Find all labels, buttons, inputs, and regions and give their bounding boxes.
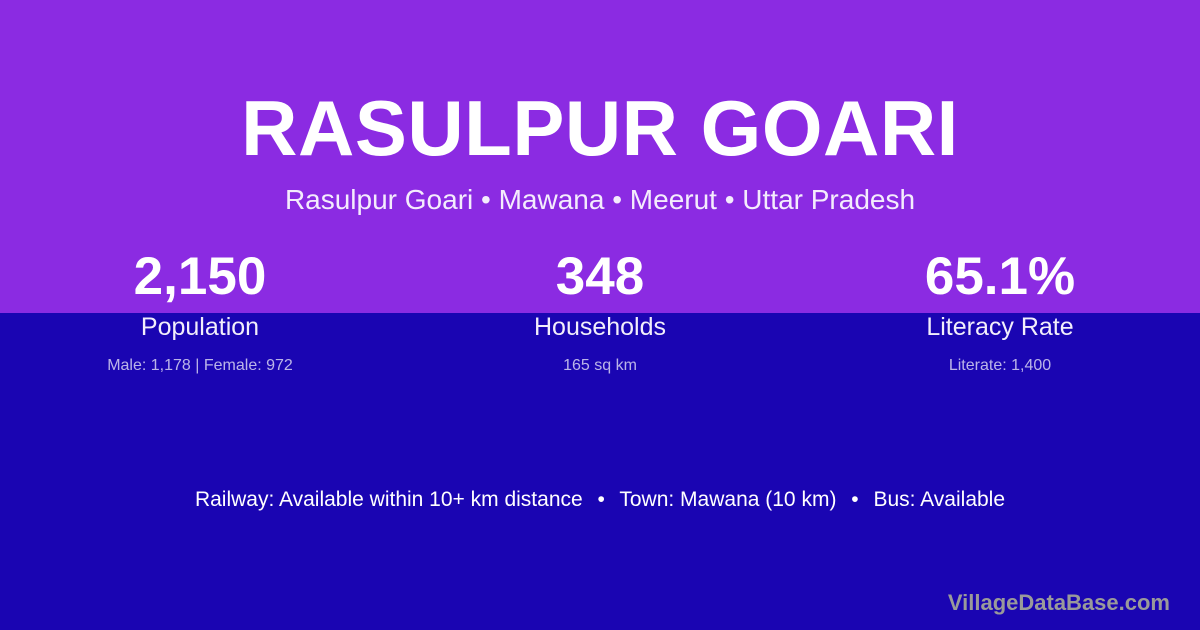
- stat-literacy-rate-sub: Literate: 1,400: [800, 355, 1200, 377]
- amenities-line: Railway: Available within 10+ km distanc…: [0, 486, 1200, 514]
- amenity-town: Town: Mawana (10 km): [619, 488, 836, 511]
- amenity-separator-2: •: [842, 486, 867, 514]
- page-title: RASULPUR GOARI: [0, 83, 1200, 173]
- stats-row: 2,150 Population Male: 1,178 | Female: 9…: [0, 246, 1200, 377]
- village-info-card: RASULPUR GOARI Rasulpur Goari • Mawana •…: [0, 0, 1200, 630]
- stat-population-sub: Male: 1,178 | Female: 972: [0, 355, 400, 377]
- stat-households-value: 348: [400, 246, 800, 308]
- breadcrumb: Rasulpur Goari • Mawana • Meerut • Uttar…: [0, 182, 1200, 218]
- stat-households-label: Households: [400, 310, 800, 344]
- stat-households-sub: 165 sq km: [400, 355, 800, 377]
- stat-population-label: Population: [0, 310, 400, 344]
- stat-population-value: 2,150: [0, 246, 400, 308]
- stat-literacy-rate: 65.1% Literacy Rate Literate: 1,400: [800, 246, 1200, 377]
- stat-households: 348 Households 165 sq km: [400, 246, 800, 377]
- amenity-separator-1: •: [589, 486, 614, 514]
- stat-literacy-rate-value: 65.1%: [800, 246, 1200, 308]
- card-content: RASULPUR GOARI Rasulpur Goari • Mawana •…: [0, 0, 1200, 630]
- stat-literacy-rate-label: Literacy Rate: [800, 310, 1200, 344]
- amenity-railway: Railway: Available within 10+ km distanc…: [195, 488, 583, 511]
- amenity-bus: Bus: Available: [873, 488, 1005, 511]
- stat-population: 2,150 Population Male: 1,178 | Female: 9…: [0, 246, 400, 377]
- site-watermark: VillageDataBase.com: [948, 588, 1170, 618]
